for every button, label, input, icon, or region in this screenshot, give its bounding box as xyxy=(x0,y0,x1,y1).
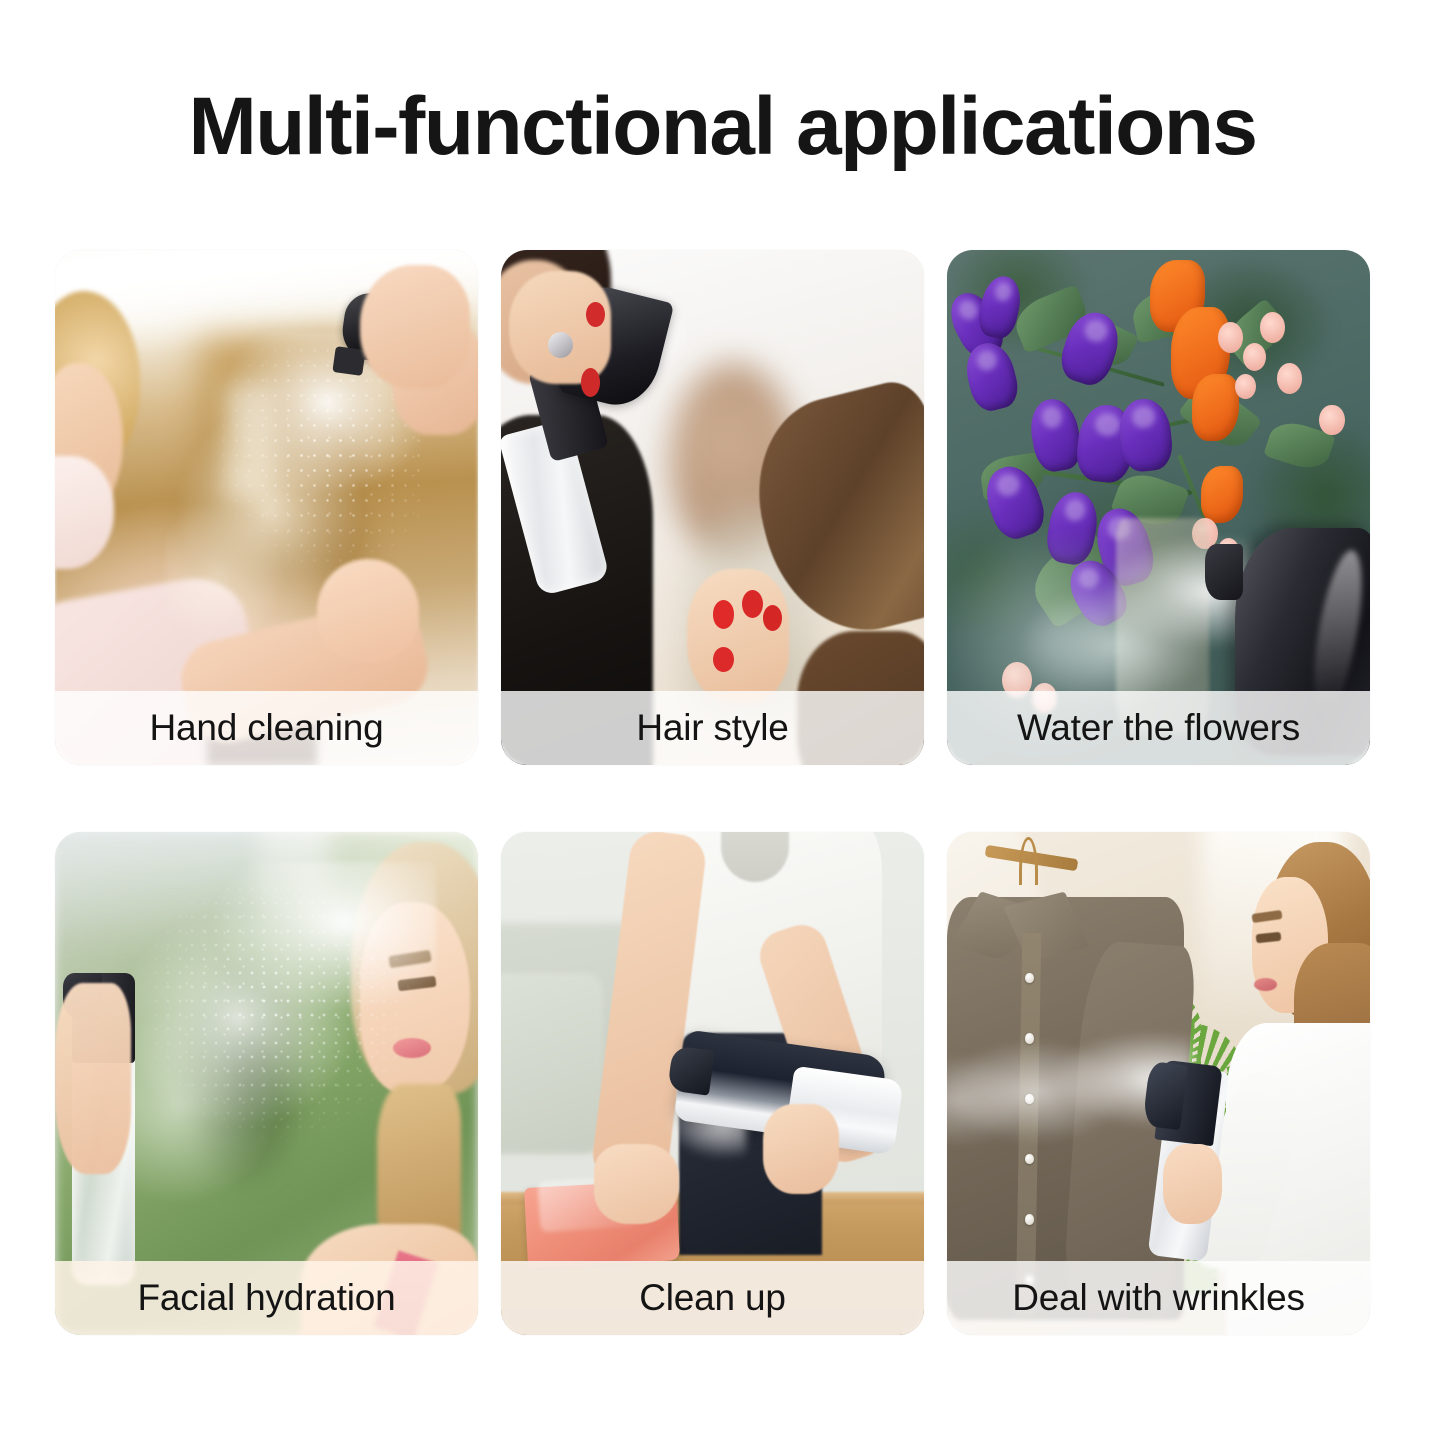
applications-grid: Hand cleaning xyxy=(55,250,1390,1335)
caption-band-hair-style: Hair style xyxy=(501,691,924,765)
pink-floret xyxy=(1218,322,1243,353)
scene-water-the-flowers xyxy=(947,250,1370,765)
shirt-button xyxy=(1025,973,1034,984)
orange-flower xyxy=(1192,374,1239,441)
tile-deal-with-wrinkles[interactable]: Deal with wrinkles xyxy=(947,832,1370,1335)
mist-droplets xyxy=(114,882,427,1214)
tile-facial-hydration[interactable]: Facial hydration xyxy=(55,832,478,1335)
lips xyxy=(1254,978,1277,991)
caption-hand-cleaning: Hand cleaning xyxy=(150,707,384,749)
pink-floret xyxy=(1319,405,1344,436)
scene-clean-up xyxy=(501,832,924,1335)
hand-holding-bottle xyxy=(55,983,131,1174)
hand-holding-bottle xyxy=(763,1104,839,1195)
mist-droplets xyxy=(165,343,427,652)
scene-facial-hydration xyxy=(55,832,478,1335)
spray-nozzle-tip xyxy=(333,346,366,376)
scene-hand-cleaning xyxy=(55,250,478,765)
caption-band-water-the-flowers: Water the flowers xyxy=(947,691,1370,765)
caption-water-the-flowers: Water the flowers xyxy=(1017,707,1300,749)
red-nail-3 xyxy=(713,600,734,628)
tile-hand-cleaning[interactable]: Hand cleaning xyxy=(55,250,478,765)
shirt-button xyxy=(1025,1214,1034,1225)
hand-holding-bottle xyxy=(1163,1144,1222,1224)
stylist-hand-lower xyxy=(687,569,789,703)
spray-nozzle xyxy=(1205,544,1243,601)
caption-clean-up: Clean up xyxy=(639,1277,786,1319)
caption-band-clean-up: Clean up xyxy=(501,1261,924,1335)
tile-water-the-flowers[interactable]: Water the flowers xyxy=(947,250,1370,765)
red-nail-5 xyxy=(713,647,734,673)
caption-facial-hydration: Facial hydration xyxy=(138,1277,396,1319)
tile-clean-up[interactable]: Clean up xyxy=(501,832,924,1335)
caption-band-hand-cleaning: Hand cleaning xyxy=(55,691,478,765)
scene-hair-style xyxy=(501,250,924,765)
caption-band-deal-with-wrinkles: Deal with wrinkles xyxy=(947,1261,1370,1335)
pink-floret xyxy=(1235,374,1256,400)
pink-floret xyxy=(1260,312,1285,343)
wiping-hand xyxy=(594,1144,679,1224)
caption-deal-with-wrinkles: Deal with wrinkles xyxy=(1012,1277,1305,1319)
page-title: Multi-functional applications xyxy=(0,84,1445,170)
infographic-page: Multi-functional applications xyxy=(0,0,1445,1445)
tile-hair-style[interactable]: Hair style xyxy=(501,250,924,765)
finger-ring xyxy=(548,332,573,358)
sofa-cushion xyxy=(501,973,603,1154)
caption-hair-style: Hair style xyxy=(636,707,788,749)
caption-band-facial-hydration: Facial hydration xyxy=(55,1261,478,1335)
spraying-hand xyxy=(360,265,470,389)
red-nail-1 xyxy=(586,302,605,328)
stylist-hand-upper xyxy=(509,271,611,384)
scene-deal-with-wrinkles xyxy=(947,832,1370,1335)
